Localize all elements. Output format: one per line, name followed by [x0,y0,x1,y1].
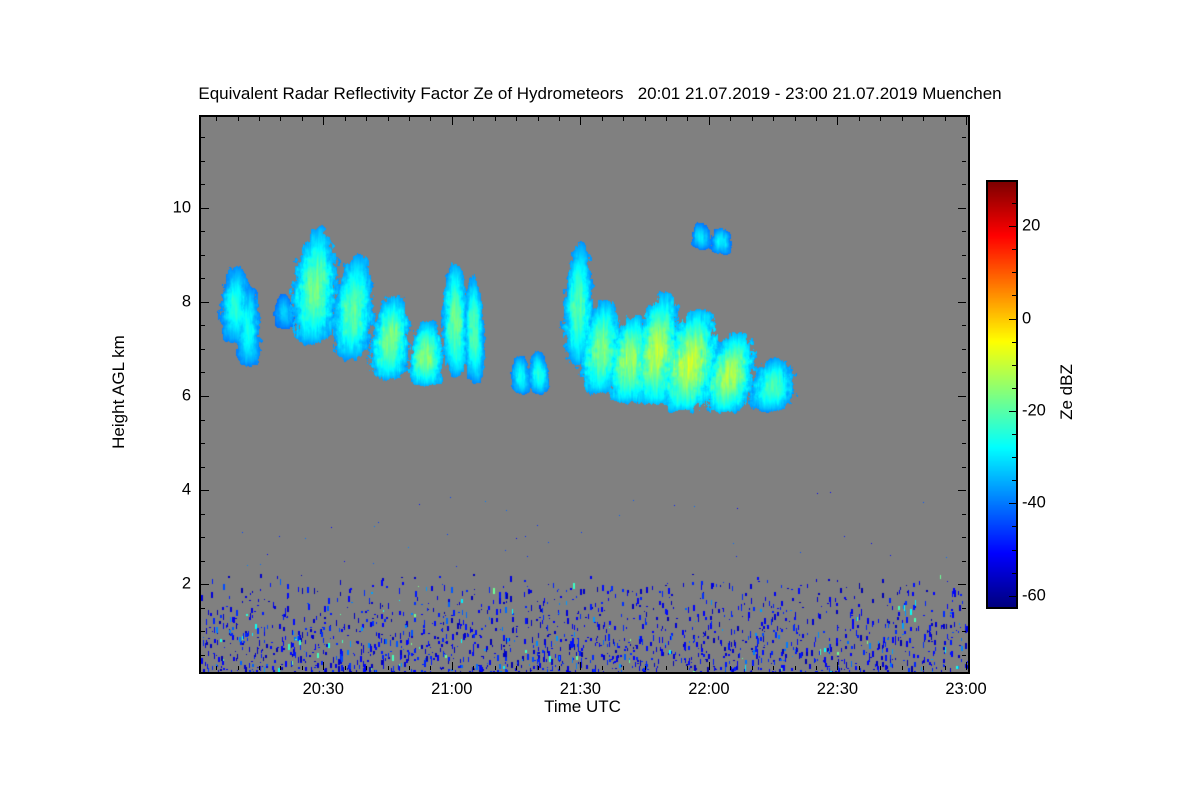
chart-title: Equivalent Radar Reflectivity Factor Ze … [0,84,1200,104]
x-tick-major [580,662,581,670]
x-tick-minor [366,666,367,670]
colorbar-tick-minor [1012,480,1016,481]
colorbar-tick-minor [1012,573,1016,574]
x-tick-minor [752,117,753,121]
y-tick-major [201,490,209,491]
colorbar [986,180,1018,609]
x-tick-minor [666,666,667,670]
x-tick-major [452,117,453,125]
x-tick-minor [859,666,860,670]
y-tick-label: 6 [149,387,191,406]
x-tick-minor [795,117,796,121]
y-tick-minor [962,255,966,256]
x-tick-minor [302,666,303,670]
y-tick-minor [201,537,205,538]
x-tick-minor [623,666,624,670]
x-tick-minor [430,117,431,121]
x-tick-minor [795,666,796,670]
y-tick-minor [962,420,966,421]
x-tick-minor [602,117,603,121]
colorbar-gradient-canvas [988,182,1016,607]
y-tick-major [958,490,966,491]
x-tick-minor [409,666,410,670]
y-tick-minor [201,467,205,468]
y-tick-minor [201,278,205,279]
y-tick-minor [962,137,966,138]
y-tick-minor [201,372,205,373]
y-tick-major [958,584,966,585]
x-tick-major [966,662,967,670]
x-tick-minor [302,117,303,121]
x-tick-minor [280,117,281,121]
x-tick-minor [238,117,239,121]
x-tick-minor [366,117,367,121]
y-tick-minor [962,161,966,162]
x-tick-minor [859,117,860,121]
x-tick-minor [880,666,881,670]
y-tick-minor [962,372,966,373]
y-tick-minor [201,443,205,444]
x-tick-minor [559,666,560,670]
y-tick-minor [962,231,966,232]
x-tick-minor [538,117,539,121]
colorbar-tick-minor [1012,365,1016,366]
x-tick-minor [538,666,539,670]
colorbar-tick-minor [1012,388,1016,389]
x-tick-minor [430,666,431,670]
x-tick-minor [623,117,624,121]
y-tick-minor [201,631,205,632]
colorbar-tick-major [1009,596,1016,597]
colorbar-tick-label: 20 [1022,217,1040,236]
x-tick-minor [388,666,389,670]
x-tick-major [709,117,710,125]
x-axis-label: Time UTC [199,697,966,717]
x-tick-minor [902,117,903,121]
x-tick-minor [923,666,924,670]
x-tick-major [709,662,710,670]
y-tick-minor [201,325,205,326]
x-tick-minor [516,117,517,121]
y-tick-label: 10 [149,198,191,217]
colorbar-tick-label: -40 [1022,494,1046,513]
colorbar-tick-minor [1012,180,1016,181]
colorbar-tick-minor [1012,457,1016,458]
y-tick-minor [962,467,966,468]
colorbar-tick-label: -60 [1022,586,1046,605]
colorbar-tick-minor [1012,272,1016,273]
colorbar-tick-label: -20 [1022,401,1046,420]
x-tick-minor [216,117,217,121]
x-tick-major [323,117,324,125]
colorbar-label: Ze dBZ [1057,364,1077,420]
x-tick-minor [388,117,389,121]
x-tick-minor [345,117,346,121]
y-tick-minor [962,631,966,632]
y-tick-minor [962,561,966,562]
x-tick-minor [645,666,646,670]
x-tick-major [837,662,838,670]
y-tick-major [201,396,209,397]
reflectivity-heatmap-canvas [201,117,968,672]
x-tick-minor [345,666,346,670]
y-tick-major [958,396,966,397]
y-tick-minor [962,184,966,185]
x-tick-minor [730,666,731,670]
colorbar-tick-major [1009,319,1016,320]
y-tick-minor [201,514,205,515]
x-tick-minor [238,666,239,670]
y-tick-major [201,208,209,209]
y-tick-minor [962,443,966,444]
y-tick-minor [201,231,205,232]
x-tick-minor [730,117,731,121]
colorbar-tick-minor [1012,550,1016,551]
x-tick-minor [687,117,688,121]
y-tick-minor [201,420,205,421]
x-tick-minor [495,666,496,670]
x-tick-minor [473,117,474,121]
y-tick-label: 4 [149,481,191,500]
radar-reflectivity-figure: Equivalent Radar Reflectivity Factor Ze … [0,0,1200,800]
colorbar-tick-minor [1012,342,1016,343]
y-axis-label: Height AGL km [109,335,129,449]
x-tick-minor [409,117,410,121]
x-tick-minor [645,117,646,121]
x-tick-minor [216,666,217,670]
x-tick-minor [516,666,517,670]
x-tick-minor [473,666,474,670]
y-tick-label: 8 [149,292,191,311]
y-tick-minor [201,349,205,350]
colorbar-tick-label: 0 [1022,309,1031,328]
y-tick-major [201,584,209,585]
colorbar-tick-minor [1012,249,1016,250]
x-tick-minor [816,666,817,670]
y-tick-minor [201,655,205,656]
x-tick-minor [945,666,946,670]
y-tick-minor [962,537,966,538]
x-tick-minor [259,666,260,670]
colorbar-tick-major [1009,411,1016,412]
y-tick-minor [962,325,966,326]
x-tick-major [966,117,967,125]
x-tick-minor [602,666,603,670]
x-tick-minor [259,117,260,121]
y-tick-minor [962,278,966,279]
y-tick-minor [201,561,205,562]
x-tick-minor [559,117,560,121]
x-tick-major [452,662,453,670]
y-tick-minor [201,608,205,609]
colorbar-tick-minor [1012,434,1016,435]
plot-area [199,115,970,674]
x-tick-major [580,117,581,125]
x-tick-minor [773,666,774,670]
colorbar-tick-major [1009,503,1016,504]
x-tick-minor [280,666,281,670]
colorbar-tick-minor [1012,295,1016,296]
y-tick-minor [201,255,205,256]
y-tick-minor [201,184,205,185]
x-tick-minor [880,117,881,121]
x-tick-major [323,662,324,670]
y-tick-major [958,302,966,303]
x-tick-major [837,117,838,125]
x-tick-minor [945,117,946,121]
colorbar-tick-major [1009,226,1016,227]
x-tick-minor [816,117,817,121]
x-tick-minor [752,666,753,670]
y-tick-label: 2 [149,575,191,594]
x-tick-minor [666,117,667,121]
y-tick-minor [962,655,966,656]
x-tick-minor [902,666,903,670]
y-tick-minor [201,161,205,162]
x-tick-minor [773,117,774,121]
y-tick-major [201,302,209,303]
x-tick-minor [495,117,496,121]
y-tick-minor [201,137,205,138]
x-tick-minor [923,117,924,121]
y-tick-minor [962,349,966,350]
y-tick-minor [962,514,966,515]
x-tick-minor [687,666,688,670]
y-tick-minor [962,608,966,609]
colorbar-tick-minor [1012,203,1016,204]
y-tick-major [958,208,966,209]
colorbar-tick-minor [1012,526,1016,527]
